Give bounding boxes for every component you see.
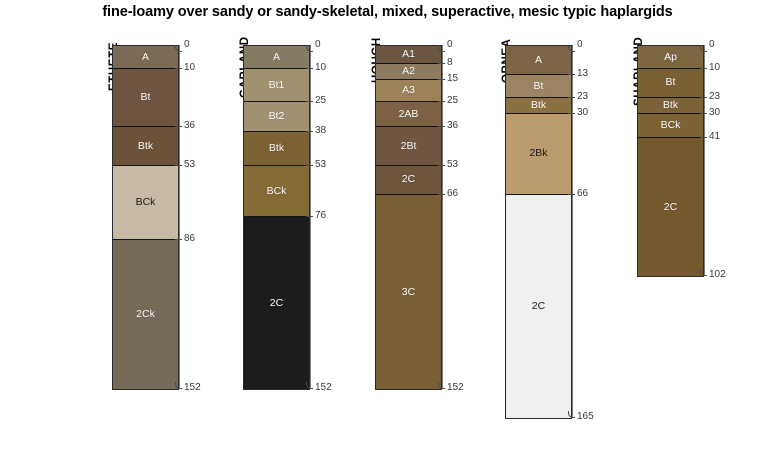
horizon-2c: 2C bbox=[638, 138, 703, 276]
depth-tick-label: 30 bbox=[577, 108, 588, 118]
horizon-label: 2Bk bbox=[529, 148, 547, 159]
horizon-label: A1 bbox=[402, 49, 415, 60]
horizon-a: A bbox=[244, 46, 309, 69]
horizon-label: A bbox=[535, 55, 542, 66]
horizon-label: Bt bbox=[666, 77, 676, 88]
axis-tick bbox=[568, 74, 575, 75]
axis-tick bbox=[438, 101, 445, 102]
axis-tick bbox=[568, 113, 575, 114]
horizon-label: 2Bt bbox=[401, 141, 417, 152]
depth-tick-label: 152 bbox=[184, 383, 201, 393]
horizon-label: Bt2 bbox=[269, 111, 285, 122]
axis-end-tick bbox=[700, 269, 707, 276]
depth-tick-label: 23 bbox=[709, 92, 720, 102]
profile-column: A1A2A32AB2Bt2C3C bbox=[375, 45, 442, 390]
axis-tick bbox=[700, 113, 707, 114]
horizon-bt: Bt bbox=[506, 75, 571, 98]
axis-tick bbox=[306, 131, 313, 132]
axis-end-tick bbox=[175, 45, 182, 52]
depth-tick-label: 53 bbox=[184, 160, 195, 170]
depth-axis-line bbox=[442, 45, 443, 388]
axis-tick bbox=[438, 126, 445, 127]
depth-tick-label: 41 bbox=[709, 132, 720, 142]
horizon-label: 2AB bbox=[399, 109, 419, 120]
axis-tick bbox=[568, 194, 575, 195]
horizon-bt1: Bt1 bbox=[244, 69, 309, 103]
depth-tick-label: 38 bbox=[315, 126, 326, 136]
horizon-2c: 2C bbox=[376, 166, 441, 195]
depth-tick-label: 36 bbox=[447, 121, 458, 131]
depth-axis-line bbox=[572, 45, 573, 417]
horizon-label: BCk bbox=[267, 186, 287, 197]
horizon-a: A bbox=[506, 46, 571, 75]
axis-tick bbox=[438, 194, 445, 195]
profile-column: ABtBtkBCk2Ck bbox=[112, 45, 179, 390]
horizon-label: 2C bbox=[532, 301, 545, 312]
axis-end-tick bbox=[568, 411, 575, 418]
depth-tick-label: 10 bbox=[184, 63, 195, 73]
depth-tick-label: 0 bbox=[315, 40, 321, 50]
horizon-label: A3 bbox=[402, 85, 415, 96]
horizon-2c: 2C bbox=[244, 217, 309, 388]
soil-profile-hough: HOUGHA1A2A32AB2Bt2C3C081525365366152 bbox=[375, 45, 440, 388]
axis-end-tick bbox=[306, 45, 313, 52]
horizon-label: Btk bbox=[663, 100, 678, 111]
soil-profile-ethete: ETHETEABtBtkBCk2Ck010365386152 bbox=[112, 45, 177, 388]
axis-tick bbox=[175, 165, 182, 166]
depth-tick-label: 23 bbox=[577, 92, 588, 102]
depth-tick-label: 76 bbox=[315, 211, 326, 221]
depth-tick-label: 8 bbox=[447, 58, 453, 68]
axis-tick bbox=[438, 63, 445, 64]
horizon-label: 2Ck bbox=[136, 309, 155, 320]
horizon-label: 2C bbox=[270, 298, 283, 309]
axis-end-tick bbox=[438, 382, 445, 389]
horizon-2bt: 2Bt bbox=[376, 127, 441, 165]
axis-end-tick bbox=[568, 45, 575, 52]
profile-column: ABtBtk2Bk2C bbox=[505, 45, 572, 419]
horizon-a: A bbox=[113, 46, 178, 69]
axis-tick bbox=[700, 97, 707, 98]
axis-end-tick bbox=[700, 45, 707, 52]
horizon-bt2: Bt2 bbox=[244, 102, 309, 131]
axis-tick bbox=[568, 97, 575, 98]
horizon-bt: Bt bbox=[113, 69, 178, 128]
axis-end-tick bbox=[438, 45, 445, 52]
depth-axis-line bbox=[704, 45, 705, 275]
horizon-label: 2C bbox=[402, 174, 415, 185]
horizon-a3: A3 bbox=[376, 80, 441, 103]
horizon-a1: A1 bbox=[376, 46, 441, 64]
depth-tick-label: 86 bbox=[184, 234, 195, 244]
horizon-btk: Btk bbox=[244, 132, 309, 166]
depth-tick-label: 36 bbox=[184, 121, 195, 131]
horizon-ap: Ap bbox=[638, 46, 703, 69]
horizon-label: A2 bbox=[402, 66, 415, 77]
depth-tick-label: 0 bbox=[577, 40, 583, 50]
depth-tick-label: 13 bbox=[577, 69, 588, 79]
horizon-label: Btk bbox=[531, 100, 546, 111]
horizon-btk: Btk bbox=[638, 98, 703, 114]
depth-tick-label: 25 bbox=[315, 96, 326, 106]
depth-tick-label: 152 bbox=[447, 383, 464, 393]
axis-tick bbox=[306, 101, 313, 102]
depth-tick-label: 15 bbox=[447, 74, 458, 84]
horizon-a2: A2 bbox=[376, 64, 441, 80]
depth-tick-label: 152 bbox=[315, 383, 332, 393]
horizon-3c: 3C bbox=[376, 195, 441, 389]
axis-tick bbox=[306, 216, 313, 217]
horizon-label: BCk bbox=[661, 120, 681, 131]
horizon-label: Bt bbox=[141, 92, 151, 103]
depth-tick-label: 165 bbox=[577, 412, 594, 422]
depth-tick-label: 30 bbox=[709, 108, 720, 118]
depth-tick-label: 25 bbox=[447, 96, 458, 106]
horizon-label: 2C bbox=[664, 202, 677, 213]
horizon-btk: Btk bbox=[113, 127, 178, 165]
axis-tick bbox=[700, 137, 707, 138]
horizon-label: Bt bbox=[534, 81, 544, 92]
horizon-bck: BCk bbox=[244, 166, 309, 218]
profile-column: ABt1Bt2BtkBCk2C bbox=[243, 45, 310, 390]
horizon-bt: Bt bbox=[638, 69, 703, 98]
depth-axis-line bbox=[179, 45, 180, 388]
depth-tick-label: 0 bbox=[184, 40, 190, 50]
horizon-bck: BCk bbox=[113, 166, 178, 240]
axis-end-tick bbox=[306, 382, 313, 389]
axis-tick bbox=[175, 68, 182, 69]
page-title: fine-loamy over sandy or sandy-skeletal,… bbox=[0, 4, 775, 20]
depth-tick-label: 53 bbox=[447, 160, 458, 170]
axis-tick bbox=[306, 68, 313, 69]
horizon-label: Btk bbox=[138, 141, 153, 152]
horizon-label: Bt1 bbox=[269, 80, 285, 91]
horizon-btk: Btk bbox=[506, 98, 571, 114]
depth-tick-label: 66 bbox=[577, 189, 588, 199]
depth-tick-label: 10 bbox=[709, 63, 720, 73]
axis-tick bbox=[306, 165, 313, 166]
axis-tick bbox=[175, 126, 182, 127]
horizon-bck: BCk bbox=[638, 114, 703, 139]
horizon-label: BCk bbox=[136, 197, 156, 208]
horizon-label: 3C bbox=[402, 287, 415, 298]
depth-tick-label: 102 bbox=[709, 270, 726, 280]
axis-end-tick bbox=[175, 382, 182, 389]
horizon-2ck: 2Ck bbox=[113, 240, 178, 389]
horizon-label: Btk bbox=[269, 143, 284, 154]
horizon-2ab: 2AB bbox=[376, 102, 441, 127]
depth-tick-label: 10 bbox=[315, 63, 326, 73]
depth-tick-label: 66 bbox=[447, 189, 458, 199]
axis-tick bbox=[438, 165, 445, 166]
depth-tick-label: 0 bbox=[447, 40, 453, 50]
profile-column: ApBtBtkBCk2C bbox=[637, 45, 704, 277]
soil-profile-sharland: SHARLANDApBtBtkBCk2C010233041102 bbox=[637, 45, 702, 275]
axis-tick bbox=[175, 239, 182, 240]
soil-profile-ornea: ORNEAABtBtk2Bk2C013233066165 bbox=[505, 45, 570, 417]
horizon-2c: 2C bbox=[506, 195, 571, 418]
soil-profile-garland: GARLANDABt1Bt2BtkBCk2C01025385376152 bbox=[243, 45, 308, 388]
horizon-label: Ap bbox=[664, 52, 677, 63]
depth-tick-label: 53 bbox=[315, 160, 326, 170]
horizon-2bk: 2Bk bbox=[506, 114, 571, 195]
horizon-label: A bbox=[142, 52, 149, 63]
axis-tick bbox=[700, 68, 707, 69]
axis-tick bbox=[438, 79, 445, 80]
horizon-label: A bbox=[273, 52, 280, 63]
depth-tick-label: 0 bbox=[709, 40, 715, 50]
